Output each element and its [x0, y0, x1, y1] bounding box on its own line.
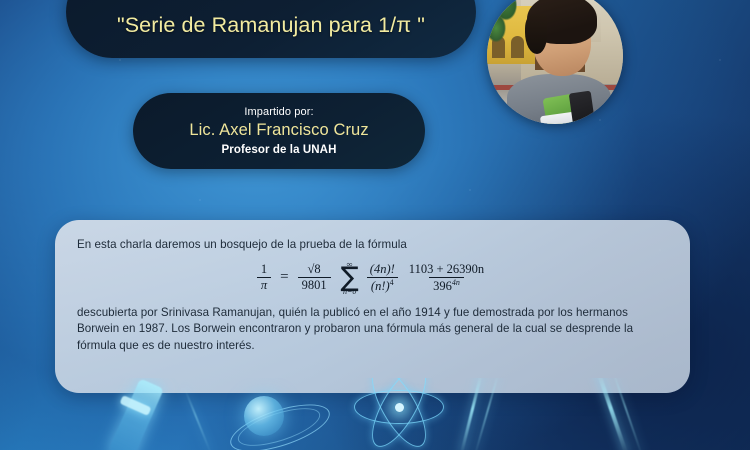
page-title: "Serie de Ramanujan para 1/π ": [117, 13, 425, 58]
formula-lhs-fraction: 1 π: [257, 263, 271, 292]
term-denominator-exponent: 4n: [452, 278, 460, 287]
ramanujan-formula: 1 π = √8 9801 ∞ ∑ n=0 (4n)! (n!)4 1103 +…: [77, 260, 668, 296]
test-tube-cap: [120, 395, 152, 416]
formula-summation: ∞ ∑ n=0: [341, 260, 359, 296]
formula-lhs-numerator: 1: [257, 263, 271, 277]
speaker-prefix-label: Impartido por:: [244, 106, 313, 118]
formula-coefficient-numerator: √8: [304, 263, 325, 277]
atom-nucleus: [395, 403, 404, 412]
formula-factorial-fraction: (4n)! (n!)4: [366, 263, 399, 293]
formula-coefficient-denominator: 9801: [298, 277, 331, 292]
speaker-pill: Impartido por: Lic. Axel Francisco Cruz …: [133, 93, 425, 169]
summation-symbol: ∑: [341, 267, 359, 289]
atom-orbit-1: [354, 390, 444, 424]
factorial-numerator: (4n)!: [366, 263, 399, 277]
factorial-denominator-exponent: 4: [390, 278, 394, 287]
planet-ring-outer: [225, 395, 335, 450]
content-panel: En esta charla daremos un bosquejo de la…: [55, 220, 690, 393]
formula-term-fraction: 1103 + 26390n 3964n: [405, 263, 488, 293]
factorial-denominator-base: (n!): [371, 279, 390, 293]
light-streak-5: [183, 386, 211, 450]
speaker-role: Profesor de la UNAH: [221, 144, 336, 156]
term-denominator: 3964n: [429, 277, 464, 293]
speaker-avatar: [487, 0, 623, 124]
planet-ring-inner: [234, 400, 324, 450]
term-numerator: 1103 + 26390n: [405, 263, 488, 277]
body-text: descubierta por Srinivasa Ramanujan, qui…: [77, 305, 668, 354]
palm-tree-2: [487, 14, 507, 64]
formula-equals-sign: =: [280, 269, 288, 286]
speaker-name: Lic. Axel Francisco Cruz: [189, 121, 368, 140]
intro-text: En esta charla daremos un bosquejo de la…: [77, 238, 668, 251]
title-pill: "Serie de Ramanujan para 1/π ": [66, 0, 476, 58]
planet-icon: [244, 396, 284, 436]
formula-coefficient-fraction: √8 9801: [298, 263, 331, 292]
summation-lower-limit: n=0: [343, 288, 356, 296]
formula-lhs-denominator: π: [257, 277, 271, 292]
person-sideburn: [525, 14, 547, 54]
phone-object: [569, 91, 596, 124]
term-denominator-base: 396: [433, 279, 452, 293]
photo-background: [487, 0, 623, 124]
poster-canvas: "Serie de Ramanujan para 1/π " Impartido…: [0, 0, 750, 450]
factorial-denominator: (n!)4: [367, 277, 398, 293]
